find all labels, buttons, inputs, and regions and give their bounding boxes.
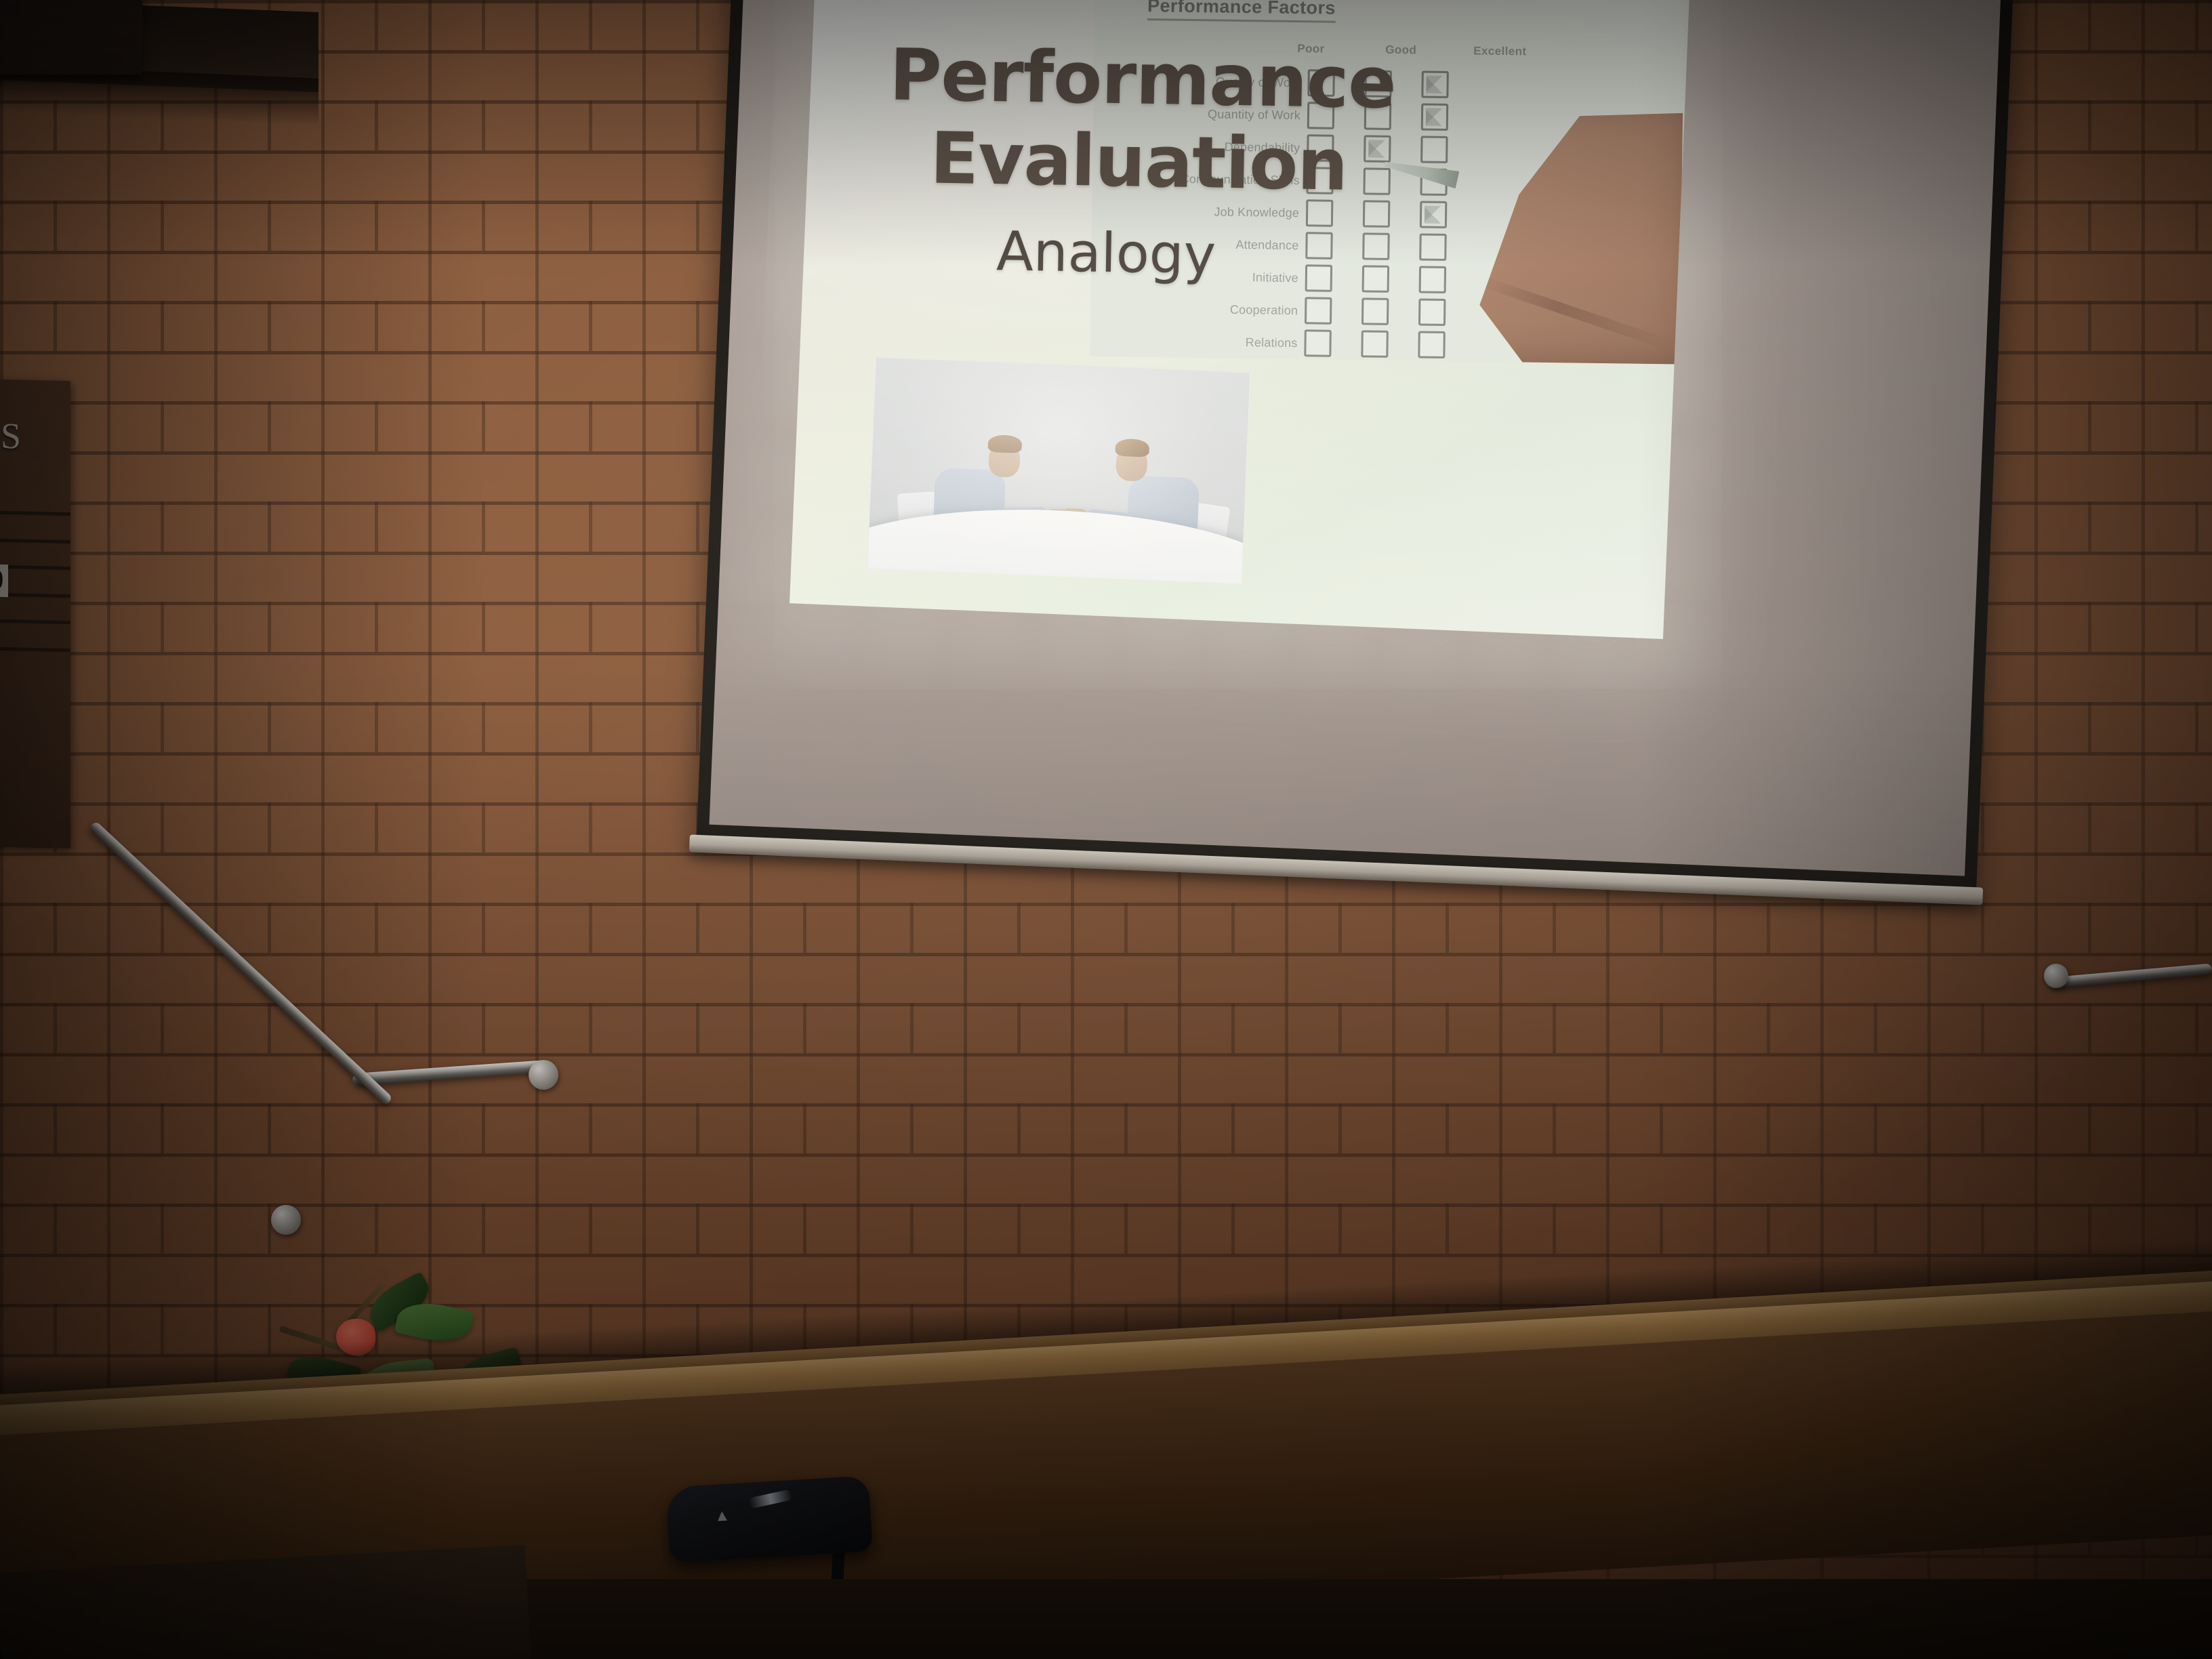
hymn-board-title: MNS <box>0 413 70 458</box>
checkbox-excellent[interactable] <box>1418 363 1446 364</box>
checkbox-poor[interactable] <box>1304 362 1332 364</box>
slide-title-line-1: Performance <box>889 39 1397 119</box>
speaker-icon <box>0 0 142 75</box>
hymn-board-row: 65 <box>0 510 70 544</box>
projected-slide: Performance Factors Poor Good Excellent … <box>790 0 1690 639</box>
black-bag[interactable] <box>665 1475 873 1563</box>
slide-title-line-3: Analogy <box>996 224 1216 282</box>
projection-screen-frame: Performance Factors Poor Good Excellent … <box>697 0 2015 888</box>
hymn-number: 19 <box>0 564 8 597</box>
checklist-row-boxes <box>1304 362 1446 364</box>
room-scene: MNS 65 T 19 56 Performance Factors <box>0 0 2212 1659</box>
meeting-photo <box>867 357 1250 583</box>
slide-title-line-2: Evaluation <box>930 123 1348 201</box>
hymn-board: MNS 65 T 19 56 <box>0 378 70 848</box>
bag-logo-icon <box>717 1511 727 1521</box>
hymn-board-row: 56 <box>0 618 70 652</box>
slide-title-block: Performance Evaluation Analogy <box>805 0 1685 352</box>
hymn-board-row: T 19 <box>0 564 70 598</box>
projection-screen-surface: Performance Factors Poor Good Excellent … <box>710 0 2003 876</box>
checkbox-good[interactable] <box>1361 363 1389 364</box>
bag-body <box>665 1475 873 1563</box>
projection-screen-assembly: Performance Factors Poor Good Excellent … <box>697 0 2015 888</box>
